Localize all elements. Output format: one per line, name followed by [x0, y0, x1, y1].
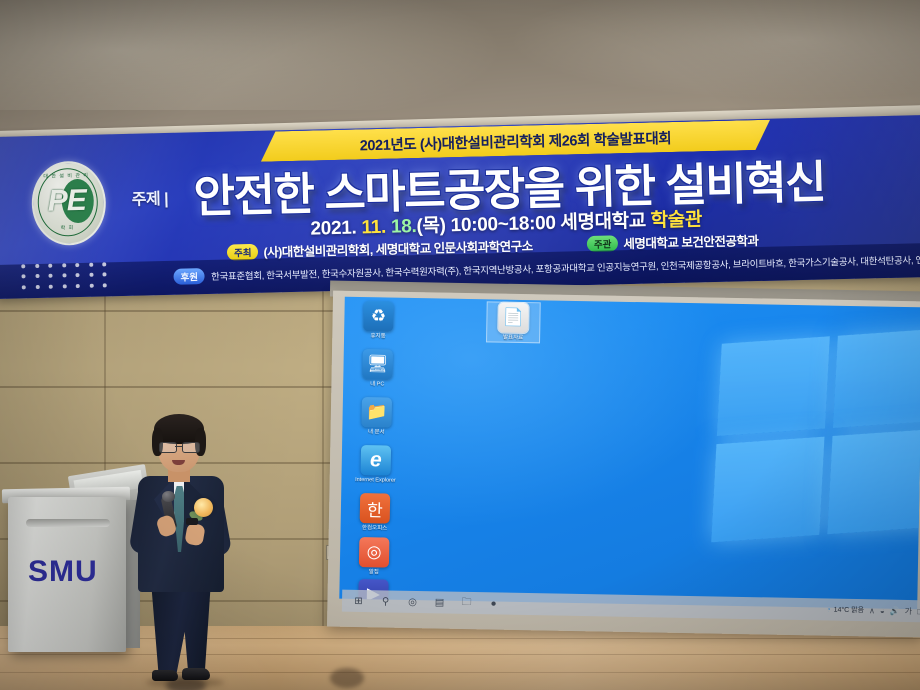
- show-hidden-icons-icon[interactable]: ∧: [869, 606, 875, 615]
- date-prefix: 2021.: [310, 217, 362, 239]
- lectern-podium: SMU: [8, 497, 126, 652]
- organizer-pill: 주관: [587, 235, 619, 252]
- internet-explorer-icon: e: [361, 445, 392, 476]
- desktop-icon-alzip[interactable]: ◎ 알집: [348, 537, 401, 577]
- speaker-presenter: [128, 412, 236, 684]
- my-computer-icon: 🖥: [362, 349, 393, 380]
- hancom-office-icon: 한: [360, 493, 391, 524]
- network-icon[interactable]: ◒: [880, 606, 885, 615]
- ceiling-light-glow: [0, 0, 506, 110]
- desktop-icon-label: Internet Explorer: [349, 477, 401, 485]
- ime-icon[interactable]: 가: [905, 605, 913, 616]
- date-day: 18.: [391, 216, 417, 238]
- cortana-icon[interactable]: ◎: [406, 595, 419, 608]
- system-tray[interactable]: ◔ 14°C 맑음 ∧ ◒ 🔊 가 □: [826, 598, 920, 622]
- date-month: 11.: [361, 217, 386, 239]
- desktop-icon-label: 한컴오피스: [349, 525, 401, 533]
- weather-widget[interactable]: ◔ 14°C 맑음: [826, 604, 864, 615]
- floor-object: [330, 668, 364, 688]
- alzip-icon: ◎: [359, 537, 390, 568]
- conference-banner: 2021년도 (사)대한설비관리학회 제26회 학술발표대회 대 한 설 비 관…: [0, 115, 920, 299]
- desktop-icon-my-computer[interactable]: 🖥 내 PC: [351, 349, 404, 389]
- browser-icon[interactable]: ●: [487, 597, 500, 610]
- weather-icon: ◔: [826, 606, 830, 613]
- file-folder-icon: 📁: [361, 397, 392, 428]
- desktop-icon-hancom-office[interactable]: 한 한컴오피스: [349, 493, 402, 533]
- date-weekday: (목): [416, 215, 446, 237]
- start-button[interactable]: ⊞: [352, 594, 365, 607]
- date-time: 10:00~18:00: [450, 213, 555, 236]
- desktop-icon-label: 내 문서: [350, 429, 402, 437]
- windows-logo-wallpaper-icon: [711, 327, 920, 554]
- file-explorer-icon[interactable]: 🗀: [460, 596, 473, 609]
- search-icon[interactable]: ⚲: [379, 595, 392, 608]
- venue-name: 세명대학교: [560, 211, 651, 234]
- desktop-icon-selected-document[interactable]: 📄 발표자료: [486, 301, 541, 343]
- sponsor-pill: 후원: [173, 268, 205, 285]
- banner-dot-pattern: [21, 262, 114, 292]
- weather-text: 14°C 맑음: [834, 605, 865, 616]
- task-view-icon[interactable]: ▤: [433, 596, 446, 609]
- recycle-bin-icon: ♻: [363, 301, 394, 332]
- speaker-wristwatch: [186, 518, 198, 525]
- society-emblem-icon: 대 한 설 비 관 리 PE 학 회: [31, 160, 103, 242]
- venue-hall: 학술관: [650, 209, 702, 231]
- desktop-icon-label: 내 PC: [351, 381, 403, 389]
- speaker-trousers: [150, 584, 212, 676]
- desktop-icon-file-folder[interactable]: 📁 내 문서: [350, 397, 403, 437]
- speaker-shoe-right: [182, 668, 210, 680]
- desktop-icon-label: 휴지통: [352, 333, 404, 341]
- subject-label: 주제 |: [131, 185, 168, 210]
- desktop-icon-label: 발표자료: [487, 334, 539, 342]
- desktop-icon-recycle-bin[interactable]: ♻ 휴지통: [352, 301, 405, 341]
- desktop-icon-internet-explorer[interactable]: e Internet Explorer: [349, 445, 402, 485]
- desktop-icon-label: 알집: [348, 569, 400, 577]
- podium-logo-text: SMU: [28, 555, 98, 589]
- speaker-glasses-icon: [159, 442, 199, 451]
- ceiling-light-glow-right: [506, 0, 920, 100]
- conference-hall-photo: 2021년도 (사)대한설비관리학회 제26회 학술발표대회 대 한 설 비 관…: [0, 0, 920, 690]
- speaker-corsage-flower: [194, 498, 213, 517]
- projected-windows-desktop[interactable]: ♻ 휴지통 🖥 내 PC 📁 내 문서 e Internet Explorer …: [339, 297, 920, 610]
- emblem-letters: PE: [41, 174, 92, 229]
- speaker-shoe-left: [152, 670, 178, 681]
- volume-icon[interactable]: 🔊: [890, 606, 900, 615]
- document-file-icon: 📄: [498, 303, 529, 334]
- banner-venue: 세명대학교 학술관: [560, 204, 702, 234]
- host-pill: 주최: [227, 243, 259, 260]
